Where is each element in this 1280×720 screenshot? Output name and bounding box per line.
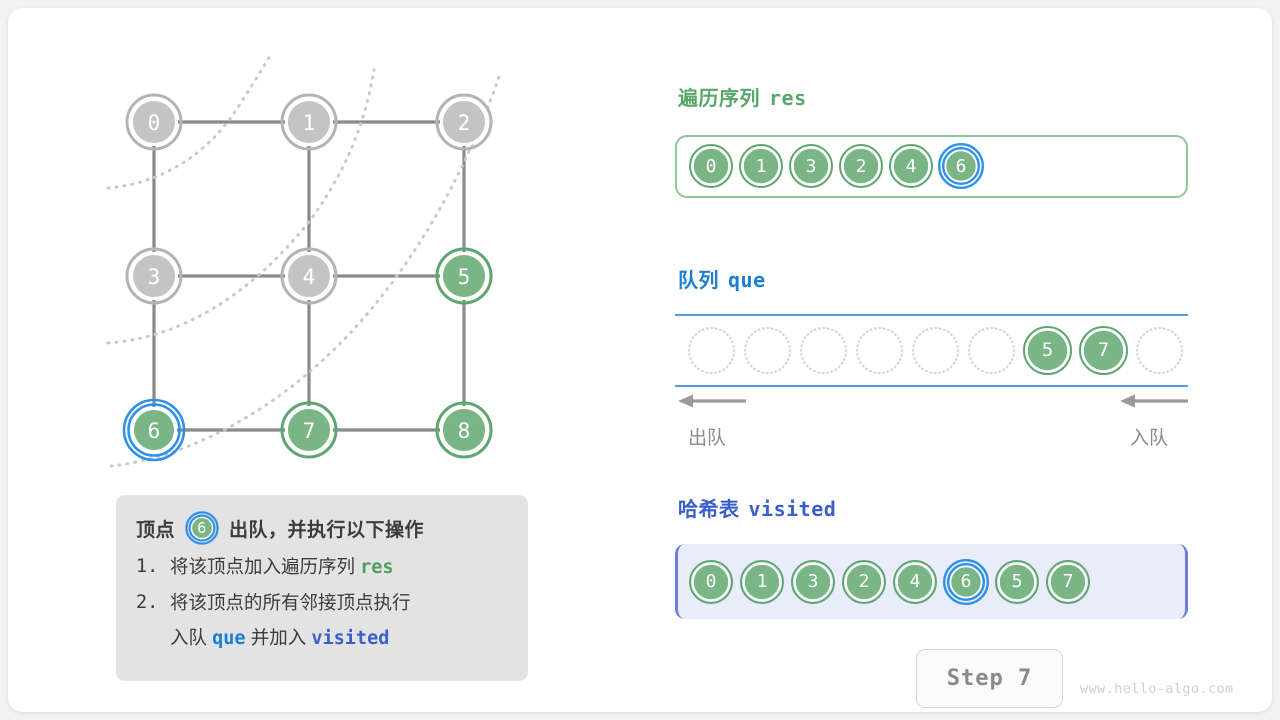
graph-node-label: 2 xyxy=(458,111,471,135)
graph-node-label: 3 xyxy=(148,265,161,289)
queue-slot-7-label: 7 xyxy=(1077,324,1130,377)
res-item-1[interactable]: 1 xyxy=(737,142,785,190)
dequeue-label: 出队 xyxy=(688,423,726,450)
caption-prefix: 顶点 xyxy=(136,515,175,542)
visited-item-7-label: 7 xyxy=(1044,558,1092,606)
dequeue-arrow-icon xyxy=(676,392,748,410)
visited-section-title: 哈希表visited xyxy=(678,493,836,522)
caption-step-2-l2-pre: 入队 xyxy=(170,627,207,648)
graph-node-5[interactable]: 5 xyxy=(437,249,491,303)
res-item-row: 013246 xyxy=(687,141,985,191)
graph-node-label: 5 xyxy=(458,265,471,289)
visited-item-2[interactable]: 3 xyxy=(789,558,837,606)
graph-node-label: 1 xyxy=(303,111,316,135)
caption-step-2-l2-code-visited: visited xyxy=(311,628,389,649)
queue-slot-6-label: 5 xyxy=(1021,324,1074,377)
queue-slot-3[interactable] xyxy=(853,324,906,377)
visited-item-row: 01324657 xyxy=(687,554,1092,609)
res-item-3-label: 2 xyxy=(837,142,885,190)
queue-bottom-rule xyxy=(675,385,1188,387)
graph-node-3[interactable]: 3 xyxy=(127,249,181,303)
caption-step-1-text: 将该顶点加入遍历序列 xyxy=(170,556,355,577)
caption-step-2-indent xyxy=(136,622,170,654)
graph-node-0[interactable]: 0 xyxy=(127,95,181,149)
visited-item-0-label: 0 xyxy=(687,558,735,606)
visited-item-3-label: 2 xyxy=(840,558,888,606)
res-item-0[interactable]: 0 xyxy=(687,142,735,190)
figure-card: 012345678 顶点 6 出队，并执行以下操作 1. 将该顶点加入遍历序列 … xyxy=(8,8,1272,712)
graph-node-1[interactable]: 1 xyxy=(282,95,336,149)
res-section-title: 遍历序列res xyxy=(678,82,807,111)
watermark: www.hello-algo.com xyxy=(1080,681,1234,697)
res-item-0-label: 0 xyxy=(687,142,735,190)
queue-slot-7[interactable]: 7 xyxy=(1077,324,1130,377)
visited-item-1-label: 1 xyxy=(738,558,786,606)
step-badge: Step 7 xyxy=(916,649,1063,708)
res-item-3[interactable]: 2 xyxy=(837,142,885,190)
res-item-1-label: 1 xyxy=(737,142,785,190)
visited-item-6[interactable]: 5 xyxy=(993,558,1041,606)
res-item-4[interactable]: 4 xyxy=(887,142,935,190)
caption-suffix: 出队，并执行以下操作 xyxy=(229,515,424,542)
graph-node-label: 7 xyxy=(303,419,316,443)
visited-item-4[interactable]: 4 xyxy=(891,558,939,606)
enqueue-arrow-icon xyxy=(1118,392,1190,410)
graph-node-label: 4 xyxy=(303,265,316,289)
queue-slot-1[interactable] xyxy=(741,324,794,377)
queue-slot-row: 57 xyxy=(685,320,1186,380)
visited-item-0[interactable]: 0 xyxy=(687,558,735,606)
queue-slot-8[interactable] xyxy=(1133,324,1186,377)
queue-slot-6[interactable]: 5 xyxy=(1021,324,1074,377)
graph-panel: 012345678 xyxy=(8,8,608,498)
visited-title-code: visited xyxy=(749,497,837,521)
visited-item-1[interactable]: 1 xyxy=(738,558,786,606)
enqueue-label: 入队 xyxy=(1130,423,1168,450)
queue-slot-4[interactable] xyxy=(909,324,962,377)
graph-node-label: 0 xyxy=(148,111,161,135)
visited-item-5[interactable]: 6 xyxy=(942,558,990,606)
res-item-5-label: 6 xyxy=(937,142,985,190)
queue-slot-2[interactable] xyxy=(797,324,850,377)
caption-vertex-chip-label: 6 xyxy=(185,511,219,545)
visited-item-4-label: 4 xyxy=(891,558,939,606)
caption-step-2-number: 2. xyxy=(136,587,170,618)
res-item-2[interactable]: 3 xyxy=(787,142,835,190)
graph-node-7[interactable]: 7 xyxy=(282,403,336,457)
caption-step-1-code: res xyxy=(360,557,393,578)
res-item-5[interactable]: 6 xyxy=(937,142,985,190)
caption-step-2-l2-code-que: que xyxy=(212,628,245,649)
graph-node-4[interactable]: 4 xyxy=(282,249,336,303)
caption-step-2: 2. 将该顶点的所有邻接顶点执行 xyxy=(136,587,508,618)
queue-top-rule xyxy=(675,314,1188,316)
caption-vertex-chip: 6 xyxy=(185,511,219,545)
res-title-code: res xyxy=(769,86,807,110)
queue-slot-5[interactable] xyxy=(965,324,1018,377)
queue-title-code: que xyxy=(728,268,766,292)
visited-item-7[interactable]: 7 xyxy=(1044,558,1092,606)
caption-step-1-number: 1. xyxy=(136,551,170,583)
caption-step-2-l2-mid: 并加入 xyxy=(251,627,307,648)
res-title-cn: 遍历序列 xyxy=(678,88,760,110)
queue-title-cn: 队列 xyxy=(678,270,719,292)
visited-item-3[interactable]: 2 xyxy=(840,558,888,606)
graph-node-label: 8 xyxy=(458,419,471,443)
caption-step-1: 1. 将该顶点加入遍历序列 res xyxy=(136,551,508,583)
graph-node-2[interactable]: 2 xyxy=(437,95,491,149)
graph-node-8[interactable]: 8 xyxy=(437,403,491,457)
res-item-4-label: 4 xyxy=(887,142,935,190)
queue-container: 57 xyxy=(675,314,1188,387)
caption-step-2-continued: 入队 que 并加入 visited xyxy=(136,622,508,654)
visited-title-cn: 哈希表 xyxy=(678,499,740,521)
queue-slot-0[interactable] xyxy=(685,324,738,377)
visited-item-6-label: 5 xyxy=(993,558,1041,606)
queue-section-title: 队列que xyxy=(678,264,766,293)
visited-item-5-label: 6 xyxy=(942,558,990,606)
operation-caption-box: 顶点 6 出队，并执行以下操作 1. 将该顶点加入遍历序列 res 2. 将该顶… xyxy=(116,495,528,681)
res-item-2-label: 3 xyxy=(787,142,835,190)
graph-node-6[interactable]: 6 xyxy=(124,400,184,460)
graph-svg: 012345678 xyxy=(8,8,608,498)
graph-node-label: 6 xyxy=(148,419,161,443)
caption-step-2-text: 将该顶点的所有邻接顶点执行 xyxy=(170,592,411,613)
visited-item-2-label: 3 xyxy=(789,558,837,606)
caption-headline: 顶点 6 出队，并执行以下操作 xyxy=(136,509,508,547)
